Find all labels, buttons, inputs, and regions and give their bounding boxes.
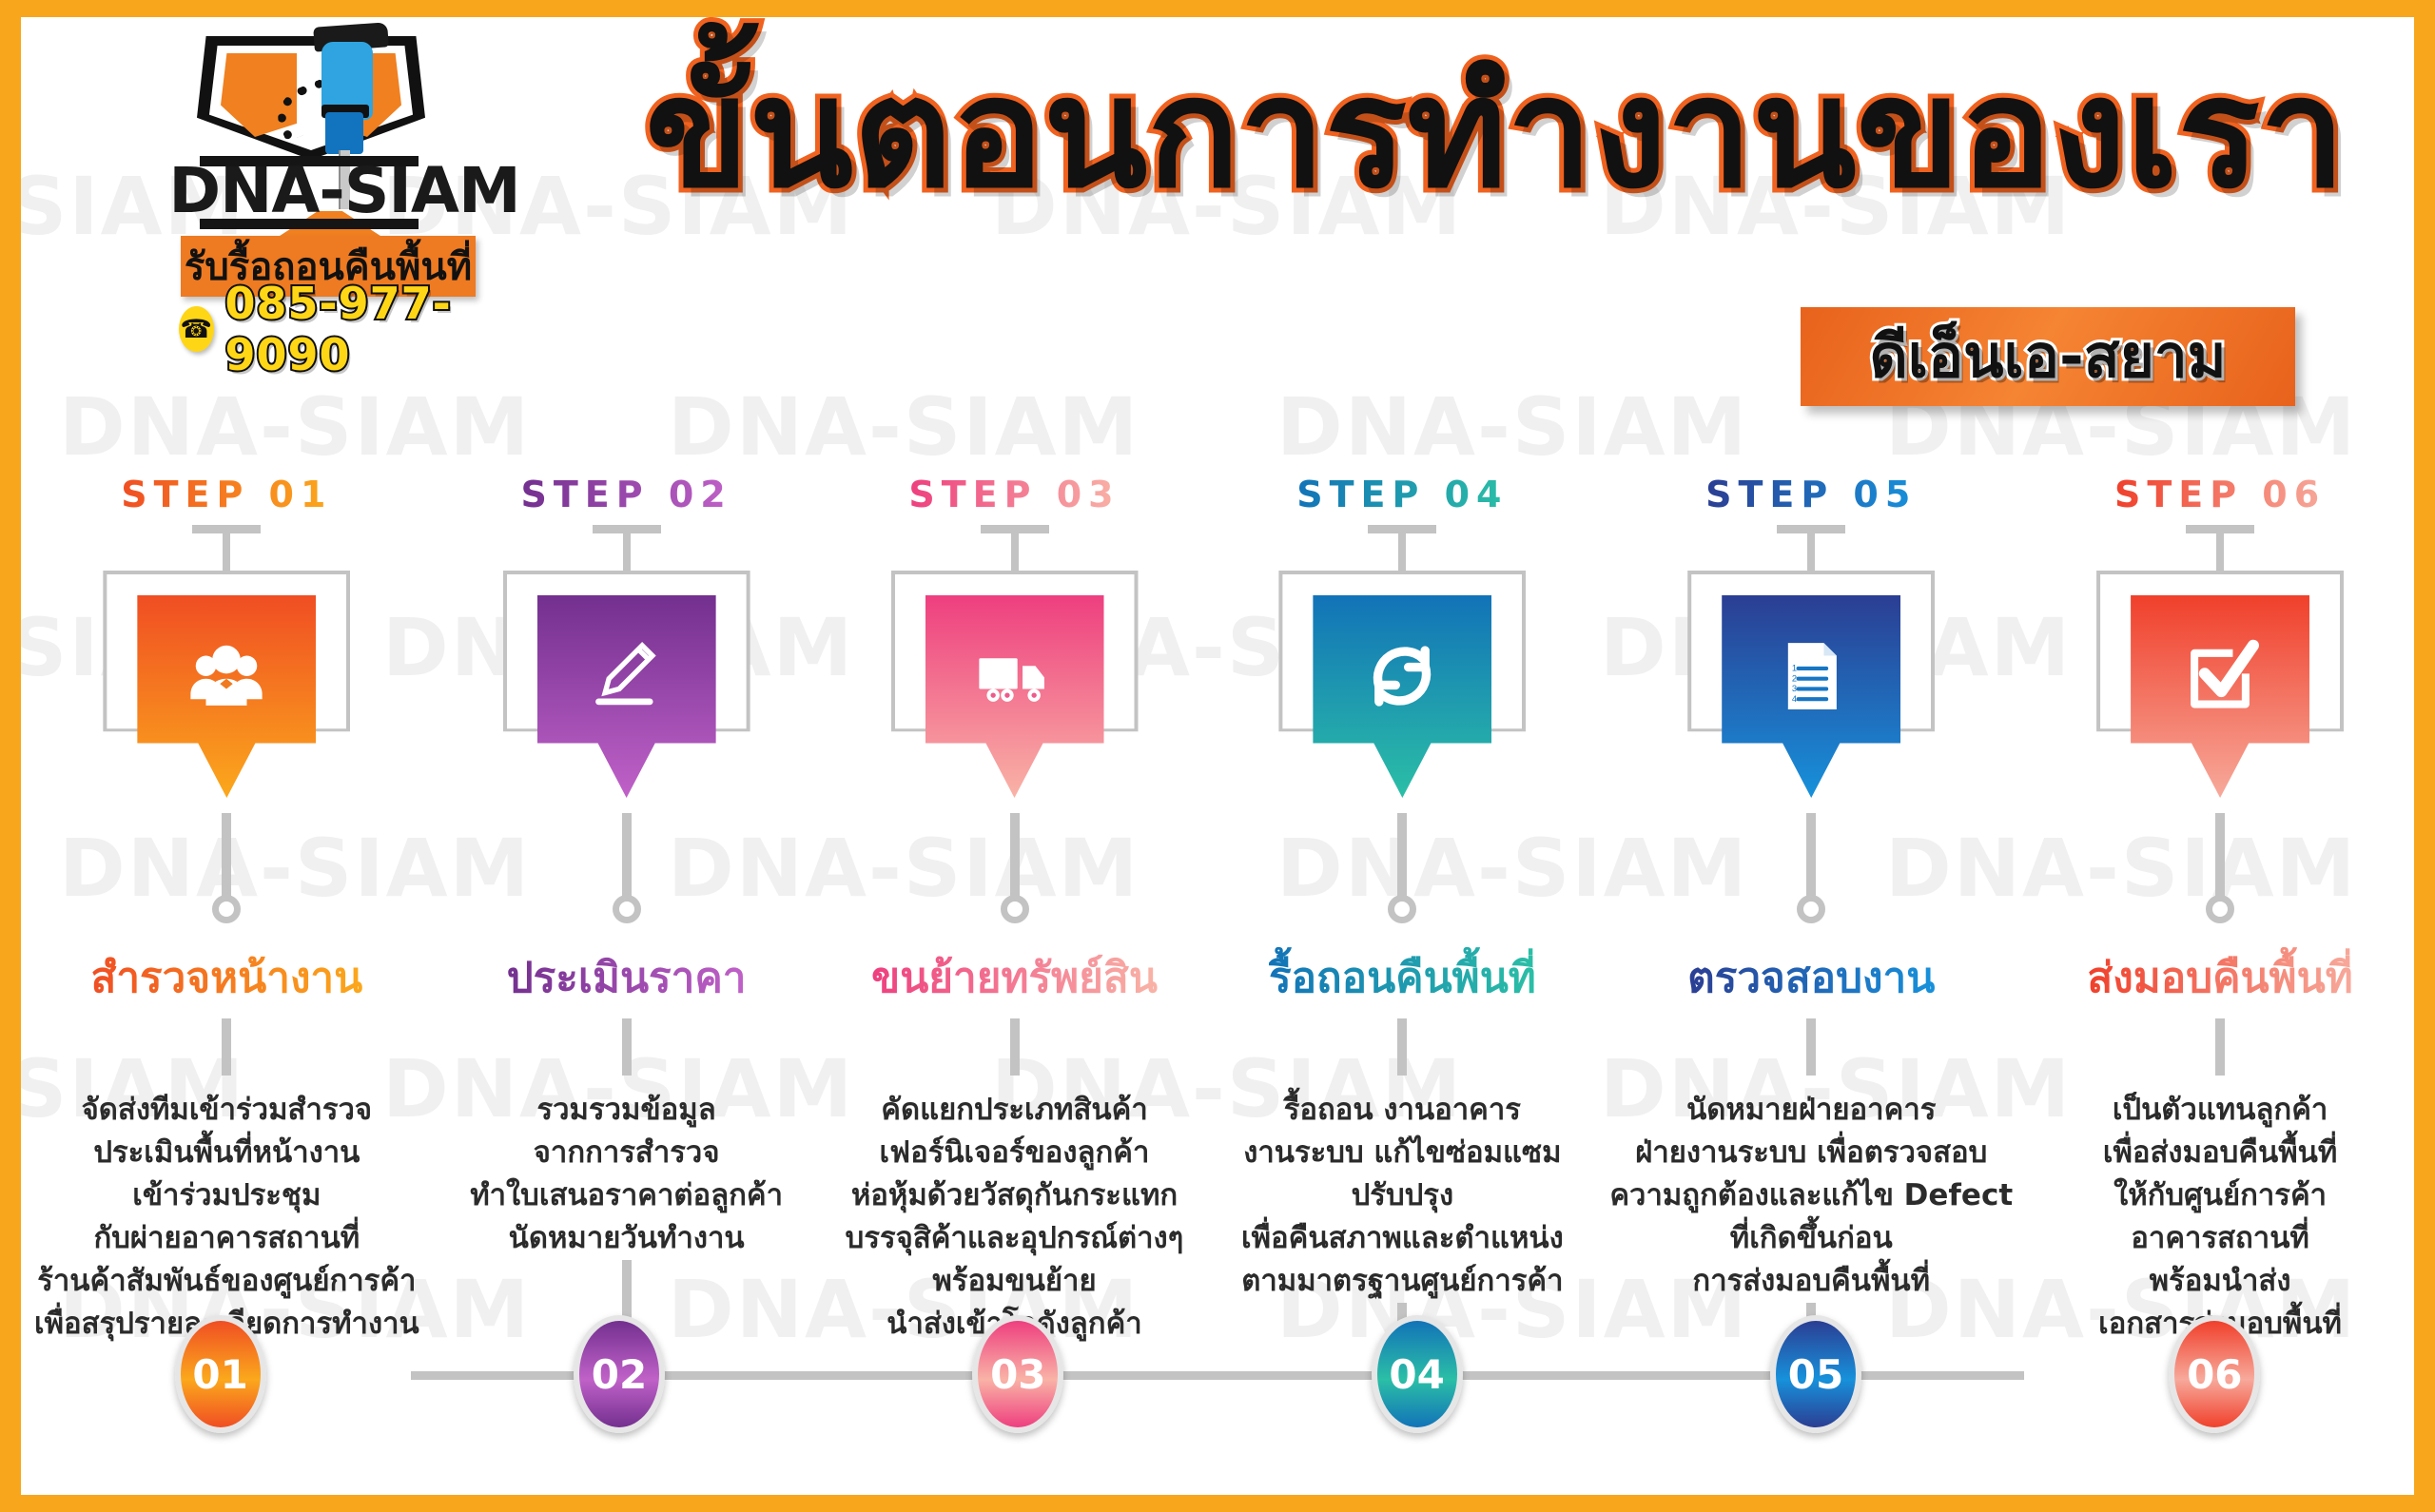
step-body-line: กับผ่ายอาคารสถานที่ (34, 1217, 419, 1260)
step-number-badge[interactable]: 05 (1770, 1315, 1861, 1433)
header: DNA-SIAM รับรื้อถอนคืนพื้นที่ ☎ 085-977-… (21, 17, 2414, 302)
step-body-line: ตามมาตรฐานศูนย์การค้า (1221, 1260, 1583, 1303)
step-title: ขนย้ายทรัพย์สิน (871, 944, 1158, 1011)
step-stem (622, 813, 632, 897)
svg-text:3: 3 (1792, 683, 1797, 693)
watermark-text: DNA-SIAM (382, 1483, 854, 1495)
step-stem (1010, 813, 1020, 897)
step-connector-tick (1368, 525, 1436, 574)
step-dot (2206, 895, 2234, 923)
step-icon-card[interactable] (2096, 571, 2344, 813)
step-icon-card[interactable]: 1234 (1687, 571, 1935, 813)
step-body: รื้อถอน งานอาคารงานระบบ แก้ไขซ่อมแซมปรับ… (1208, 1089, 1596, 1303)
step-dot (212, 895, 241, 923)
step-body-line: ปรับปรุง (1221, 1174, 1583, 1217)
step-body: รวมรวมข้อมูลจากการสำรวจทำใบเสนอราคาต่อลู… (433, 1089, 821, 1260)
step-body-line: ฝ่ายงานระบบ เพื่อตรวจสอบ (1609, 1132, 2013, 1174)
phone-row[interactable]: ☎ 085-977-9090 (179, 302, 493, 356)
poster-root: DNA-SIAMDNA-SIAMDNA-SIAMDNA-SIAMDNA-SIAM… (0, 0, 2435, 1512)
step-body: เป็นตัวแทนลูกค้าเพื่อส่งมอบคืนพื้นที่ให้… (2026, 1089, 2414, 1346)
step-title: ส่งมอบคืนพื้นที่ (2087, 944, 2352, 1011)
step-body-line: ห่อหุ้มด้วยวัสดุกันกระแทก (834, 1174, 1196, 1217)
step-stem-lower (222, 1018, 231, 1076)
step-stem-lower (2215, 1018, 2225, 1076)
logo-shield: DNA-SIAM (97, 25, 525, 205)
step-column-05[interactable]: STEP 051234ตรวจสอบงานนัดหมายฝ่ายอาคารฝ่า… (1596, 474, 2026, 1425)
watermark-text: DNA-SIAM (991, 1483, 1463, 1495)
step-stem-lower (622, 1018, 632, 1076)
step-dot (1797, 895, 1825, 923)
step-body-line: คัดแยกประเภทสินค้า (834, 1089, 1196, 1132)
step-body-line: พร้อมขนย้าย (834, 1260, 1196, 1303)
step-label: STEP 01 (121, 474, 332, 515)
step-body-line: งานระบบ แก้ไขซ่อมแซม (1221, 1132, 1583, 1174)
step-label: STEP 06 (2114, 474, 2326, 515)
timeline-rail: 010203040506 (21, 1312, 2414, 1436)
step-body: จัดส่งทีมเข้าร่วมสำรวจประเมินพื้นที่หน้า… (21, 1089, 433, 1346)
step-column-02[interactable]: STEP 02ประเมินราคารวมรวมข้อมูลจากการสำรว… (433, 474, 821, 1425)
refresh-cycle-icon (1313, 595, 1491, 798)
rail-cell: 03 (819, 1312, 1217, 1436)
step-body-line: พร้อมนำส่ง (2039, 1260, 2401, 1303)
step-connector-tick (981, 525, 1049, 574)
rail-cell: 05 (1616, 1312, 2015, 1436)
steps-row: STEP 01สำรวจหน้างานจัดส่งทีมเข้าร่วมสำรว… (21, 474, 2414, 1425)
step-label: STEP 04 (1296, 474, 1508, 515)
jackhammer-grip-icon (325, 112, 363, 154)
step-body-line: เป็นตัวแทนลูกค้า (2039, 1089, 2401, 1132)
step-stem-lower (1010, 1018, 1020, 1076)
step-title: ประเมินราคา (507, 944, 747, 1011)
step-dot (1001, 895, 1029, 923)
step-icon-card[interactable] (103, 571, 350, 813)
step-column-04[interactable]: STEP 04รื้อถอนคืนพื้นที่รื้อถอน งานอาคาร… (1208, 474, 1596, 1425)
step-label: STEP 05 (1705, 474, 1917, 515)
step-body-line: เพื่อคืนสภาพและตำแหน่ง (1221, 1217, 1583, 1260)
truck-icon (925, 595, 1104, 798)
svg-text:4: 4 (1792, 693, 1797, 704)
step-body-line: ให้กับศูนย์การค้า (2039, 1174, 2401, 1217)
poster-canvas: DNA-SIAMDNA-SIAMDNA-SIAMDNA-SIAMDNA-SIAM… (21, 17, 2414, 1495)
phone-icon: ☎ (179, 306, 214, 352)
step-body-line: ที่เกิดขึ้นก่อน (1609, 1217, 2013, 1260)
step-body-line: รื้อถอน งานอาคาร (1221, 1089, 1583, 1132)
step-dot (1388, 895, 1416, 923)
step-column-03[interactable]: STEP 03ขนย้ายทรัพย์สินคัดแยกประเภทสินค้า… (821, 474, 1209, 1425)
rail-cell: 02 (419, 1312, 818, 1436)
step-title: ตรวจสอบงาน (1687, 944, 1935, 1011)
step-icon-card[interactable] (503, 571, 750, 813)
step-body-line: นัดหมายฝ่ายอาคาร (1609, 1089, 2013, 1132)
rail-cell: 06 (2016, 1312, 2414, 1436)
step-dot (613, 895, 641, 923)
page-title: ขั้นตอนการทำงานของเรา (592, 44, 2399, 223)
step-stem-lower (1806, 1018, 1816, 1076)
rail-numbers: 010203040506 (21, 1312, 2414, 1436)
step-body-line: รวมรวมข้อมูล (446, 1089, 808, 1132)
step-column-06[interactable]: STEP 06ส่งมอบคืนพื้นที่เป็นตัวแทนลูกค้าเ… (2026, 474, 2414, 1425)
subtitle-badge-text: ดีเอ็นเอ-สยาม (1869, 310, 2226, 403)
step-body: นัดหมายฝ่ายอาคารฝ่ายงานระบบ เพื่อตรวจสอบ… (1596, 1089, 2026, 1303)
step-body-line: นัดหมายวันทำงาน (446, 1217, 808, 1260)
step-body-line: ร้านค้าสัมพันธ์ของศูนย์การค้า (34, 1260, 419, 1303)
step-body-line: บรรจุสิค้าและอุปกรณ์ต่างๆ (834, 1217, 1196, 1260)
phone-number[interactable]: 085-977-9090 (225, 278, 494, 380)
pencil-underline-icon (537, 595, 716, 798)
document-list-icon: 1234 (1722, 595, 1900, 798)
step-body-line: ทำใบเสนอราคาต่อลูกค้า (446, 1174, 808, 1217)
rail-cell: 04 (1217, 1312, 1616, 1436)
step-body: คัดแยกประเภทสินค้าเฟอร์นิเจอร์ของลูกค้าห… (821, 1089, 1209, 1346)
step-body-line: อาคารสถานที่ (2039, 1217, 2401, 1260)
step-title: สำรวจหน้างาน (90, 944, 362, 1011)
svg-text:2: 2 (1792, 672, 1797, 683)
step-number-badge[interactable]: 01 (175, 1315, 266, 1433)
watermark-text: DNA-SIAM (668, 380, 1140, 474)
step-body-line: เพื่อส่งมอบคืนพื้นที่ (2039, 1132, 2401, 1174)
step-body-line: จากการสำรวจ (446, 1132, 808, 1174)
step-stem (222, 813, 231, 897)
step-body-line: การส่งมอบคืนพื้นที่ (1609, 1260, 2013, 1303)
step-connector-tick (192, 525, 261, 574)
step-title: รื้อถอนคืนพื้นที่ (1269, 944, 1536, 1011)
watermark-text: DNA-SIAM (1276, 380, 1748, 474)
svg-text:1: 1 (1792, 663, 1797, 673)
step-connector-tick (1777, 525, 1845, 574)
step-stem (2215, 813, 2225, 897)
step-label: STEP 02 (521, 474, 732, 515)
step-icon-card[interactable] (1278, 571, 1526, 813)
step-number-badge[interactable]: 02 (574, 1315, 665, 1433)
step-icon-card[interactable] (891, 571, 1139, 813)
watermark-text: DNA-SIAM (59, 380, 531, 474)
step-number-badge[interactable]: 03 (972, 1315, 1063, 1433)
step-body-line: เฟอร์นิเจอร์ของลูกค้า (834, 1132, 1196, 1174)
watermark-text: DNA-SIAM (21, 1483, 245, 1495)
company-logo: DNA-SIAM รับรื้อถอนคืนพื้นที่ ☎ 085-977-… (97, 25, 525, 310)
step-body-line: ความถูกต้องและแก้ไข Defect (1609, 1174, 2013, 1217)
subtitle-badge: ดีเอ็นเอ-สยาม (1801, 307, 2295, 406)
checkbox-check-icon (2131, 595, 2309, 798)
step-body-line: เข้าร่วมประชุม (34, 1174, 419, 1217)
step-stem (1397, 813, 1407, 897)
step-body-line: จัดส่งทีมเข้าร่วมสำรวจ (34, 1089, 419, 1132)
watermark-text: DNA-SIAM (1600, 1483, 2072, 1495)
step-column-01[interactable]: STEP 01สำรวจหน้างานจัดส่งทีมเข้าร่วมสำรว… (21, 474, 433, 1425)
people-group-icon (137, 595, 316, 798)
step-body-line: ประเมินพื้นที่หน้างาน (34, 1132, 419, 1174)
step-stem-lower (1397, 1018, 1407, 1076)
step-connector-tick (2186, 525, 2254, 574)
step-label: STEP 03 (908, 474, 1120, 515)
step-stem (1806, 813, 1816, 897)
step-number-badge[interactable]: 06 (2169, 1315, 2260, 1433)
rail-cell: 01 (21, 1312, 419, 1436)
step-connector-tick (593, 525, 661, 574)
step-number-badge[interactable]: 04 (1372, 1315, 1463, 1433)
logo-wordmark: DNA-SIAM (154, 160, 535, 223)
